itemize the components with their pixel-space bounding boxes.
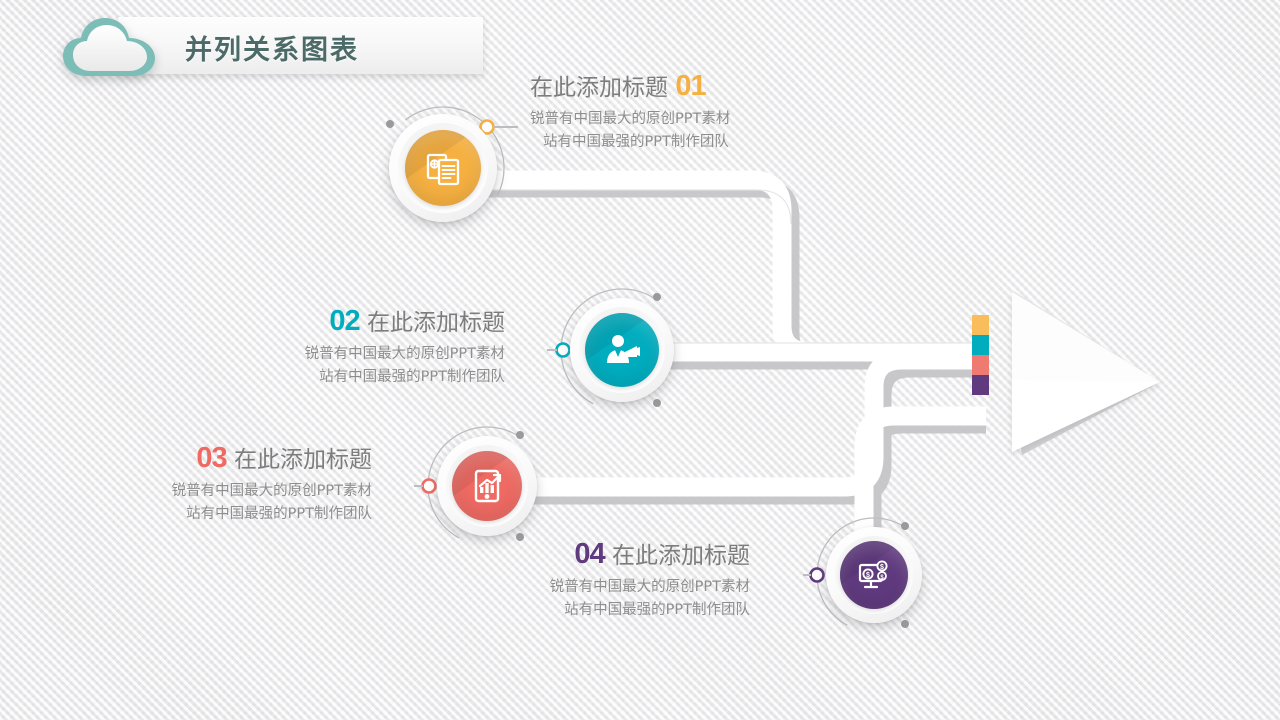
label-03-title: 在此添加标题 bbox=[234, 447, 372, 473]
label-01: 在此添加标题 01 锐普有中国最大的原创PPT素材 站有中国最强的PPT制作团队 bbox=[530, 70, 730, 153]
label-01-title-row: 在此添加标题 01 bbox=[530, 70, 730, 103]
label-02-body-2: 站有中国最强的PPT制作团队 bbox=[280, 366, 505, 388]
label-04-body-1: 锐普有中国最大的原创PPT素材 bbox=[520, 576, 750, 598]
arrow-stripes bbox=[972, 315, 989, 395]
mobile-growth-chart-icon bbox=[468, 467, 506, 505]
node-03-disc[interactable] bbox=[452, 451, 522, 521]
label-01-body-1: 锐普有中国最大的原创PPT素材 bbox=[530, 108, 730, 130]
label-01-title: 在此添加标题 bbox=[530, 75, 668, 101]
page-title: 并列关系图表 bbox=[185, 28, 359, 67]
slide-canvas: 并列关系图表 在此添加标题 01 锐普有中 bbox=[0, 0, 1280, 720]
label-02-title: 在此添加标题 bbox=[367, 310, 505, 336]
node-01-disc[interactable] bbox=[405, 130, 481, 206]
svg-text:$: $ bbox=[880, 564, 884, 571]
node-02-disc[interactable] bbox=[585, 313, 659, 387]
label-03-body-2: 站有中国最强的PPT制作团队 bbox=[140, 503, 372, 525]
label-03-title-row: 03 在此添加标题 bbox=[140, 442, 372, 475]
label-02-body-1: 锐普有中国最大的原创PPT素材 bbox=[280, 343, 505, 365]
label-03-number: 03 bbox=[196, 442, 226, 474]
monitor-money-icon: $ $ $ bbox=[856, 557, 892, 593]
label-04-number: 04 bbox=[574, 538, 604, 570]
label-01-body-2: 站有中国最强的PPT制作团队 bbox=[543, 131, 730, 153]
node-02[interactable] bbox=[570, 298, 674, 402]
documents-copy-icon bbox=[423, 148, 463, 188]
person-megaphone-icon bbox=[602, 330, 642, 370]
node-04-disc[interactable]: $ $ $ bbox=[840, 541, 908, 609]
label-02: 02 在此添加标题 锐普有中国最大的原创PPT素材 站有中国最强的PPT制作团队 bbox=[280, 305, 505, 388]
label-02-title-row: 02 在此添加标题 bbox=[280, 305, 505, 338]
label-04-body-2: 站有中国最强的PPT制作团队 bbox=[520, 599, 750, 621]
node-01[interactable] bbox=[389, 114, 497, 222]
label-03-body-1: 锐普有中国最大的原创PPT素材 bbox=[140, 480, 372, 502]
label-04: 04 在此添加标题 锐普有中国最大的原创PPT素材 站有中国最强的PPT制作团队 bbox=[520, 538, 750, 621]
label-04-title: 在此添加标题 bbox=[612, 543, 750, 569]
svg-text:$: $ bbox=[866, 572, 870, 579]
label-04-title-row: 04 在此添加标题 bbox=[520, 538, 750, 571]
cloud-icon bbox=[57, 14, 161, 80]
node-04[interactable]: $ $ $ bbox=[826, 527, 922, 623]
node-03[interactable] bbox=[437, 436, 537, 536]
label-02-number: 02 bbox=[329, 305, 359, 337]
label-03: 03 在此添加标题 锐普有中国最大的原创PPT素材 站有中国最强的PPT制作团队 bbox=[140, 442, 372, 525]
label-01-number: 01 bbox=[675, 70, 705, 102]
